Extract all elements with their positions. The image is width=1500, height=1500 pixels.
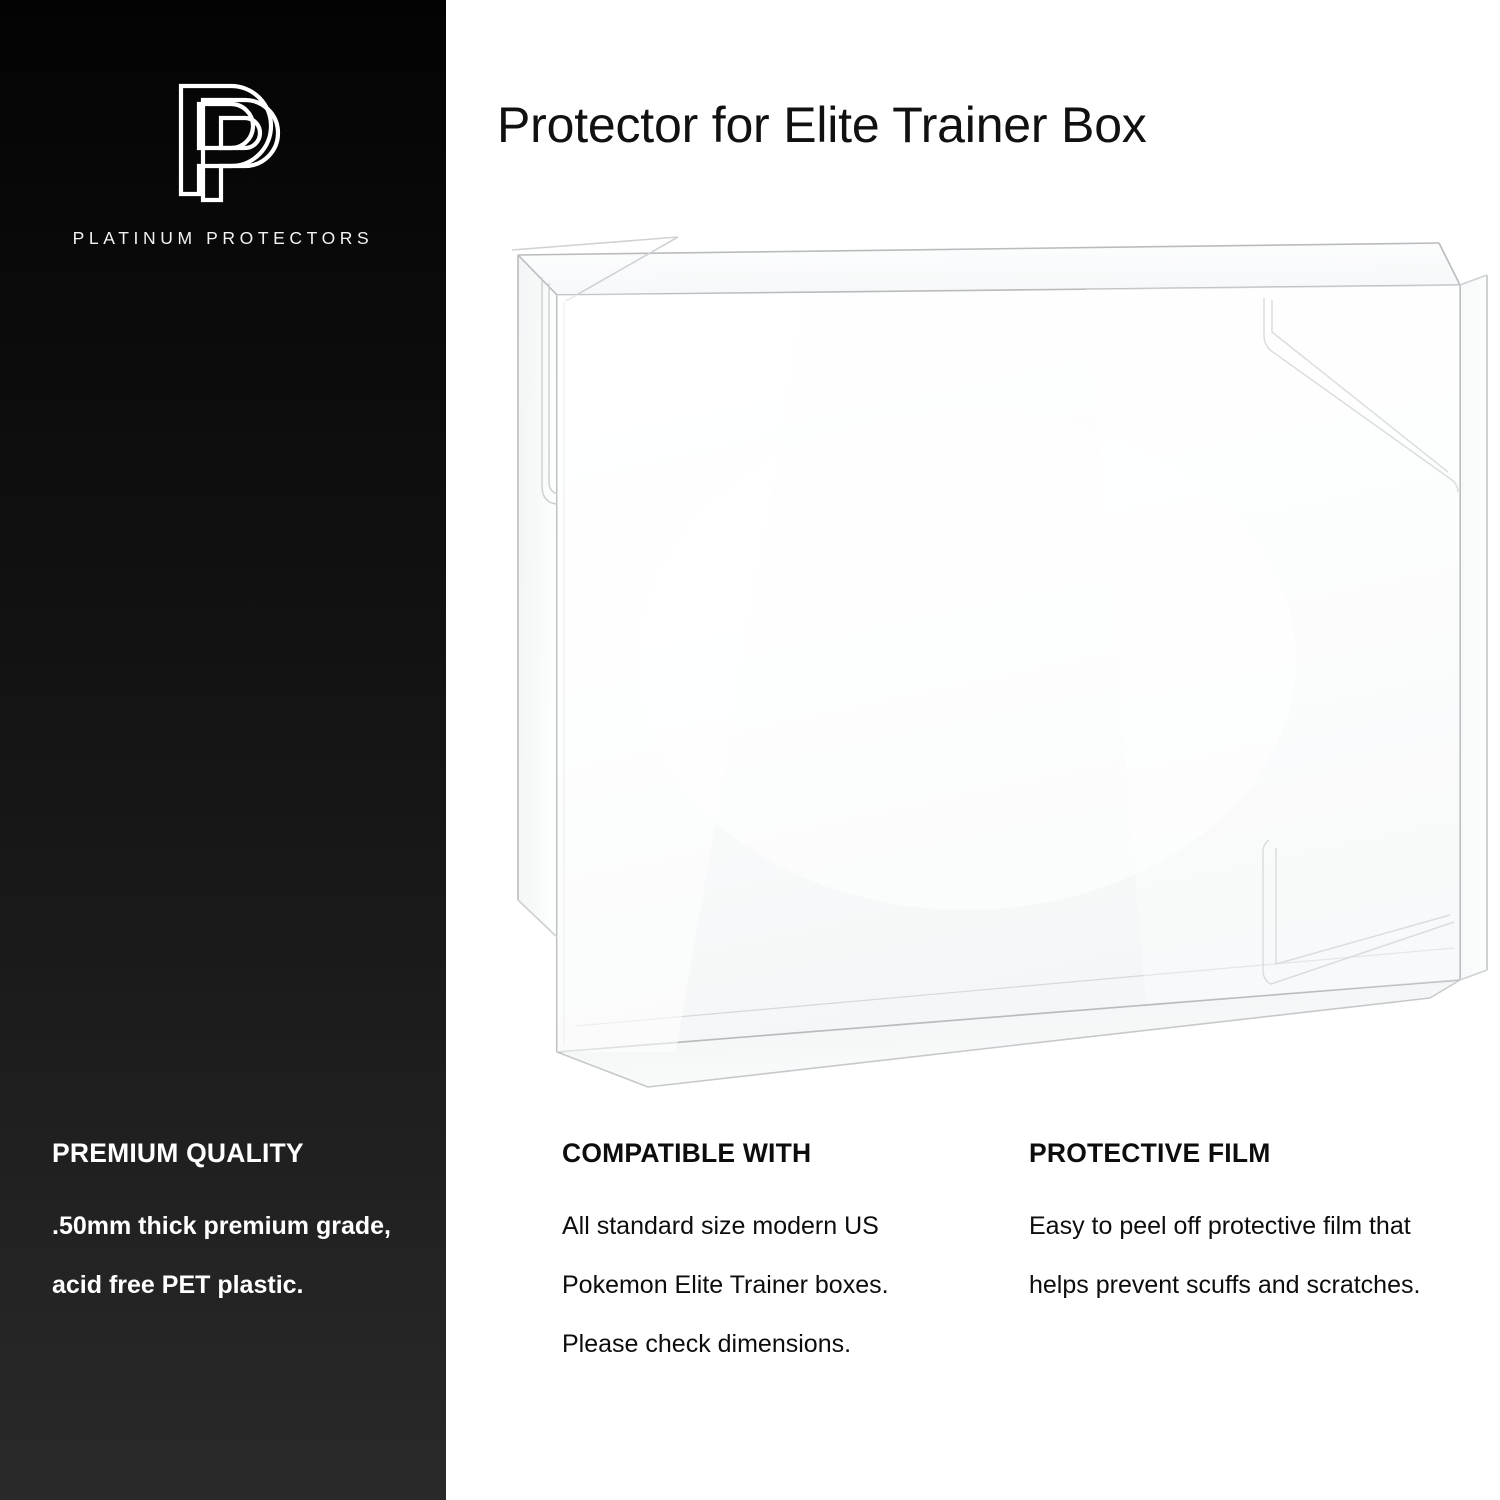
premium-quality-heading: PREMIUM QUALITY: [52, 1140, 412, 1167]
box-left-face: [518, 255, 557, 937]
protective-film-heading: PROTECTIVE FILM: [1029, 1140, 1429, 1167]
compatible-with-heading: COMPATIBLE WITH: [562, 1140, 962, 1167]
brand-lockup: PLATINUM PROTECTORS: [0, 78, 446, 249]
brand-wordmark: PLATINUM PROTECTORS: [0, 228, 446, 249]
feature-compatible-with: COMPATIBLE WITH All standard size modern…: [562, 1140, 962, 1374]
feature-protective-film: PROTECTIVE FILM Easy to peel off protect…: [1029, 1140, 1429, 1315]
compatible-with-body: All standard size modern US Pokemon Elit…: [562, 1197, 962, 1374]
clear-plastic-box-protector-icon: [446, 180, 1500, 1120]
feature-premium-quality: PREMIUM QUALITY .50mm thick premium grad…: [52, 1140, 412, 1315]
product-infographic: PLATINUM PROTECTORS PREMIUM QUALITY .50m…: [0, 0, 1500, 1500]
protective-film-body: Easy to peel off protective film that he…: [1029, 1197, 1429, 1315]
premium-quality-body: .50mm thick premium grade, acid free PET…: [52, 1197, 412, 1315]
double-p-monogram-icon: [159, 78, 287, 208]
product-image: [446, 180, 1500, 1120]
page-title: Protector for Elite Trainer Box: [497, 96, 1147, 154]
box-right-face: [1460, 275, 1487, 980]
